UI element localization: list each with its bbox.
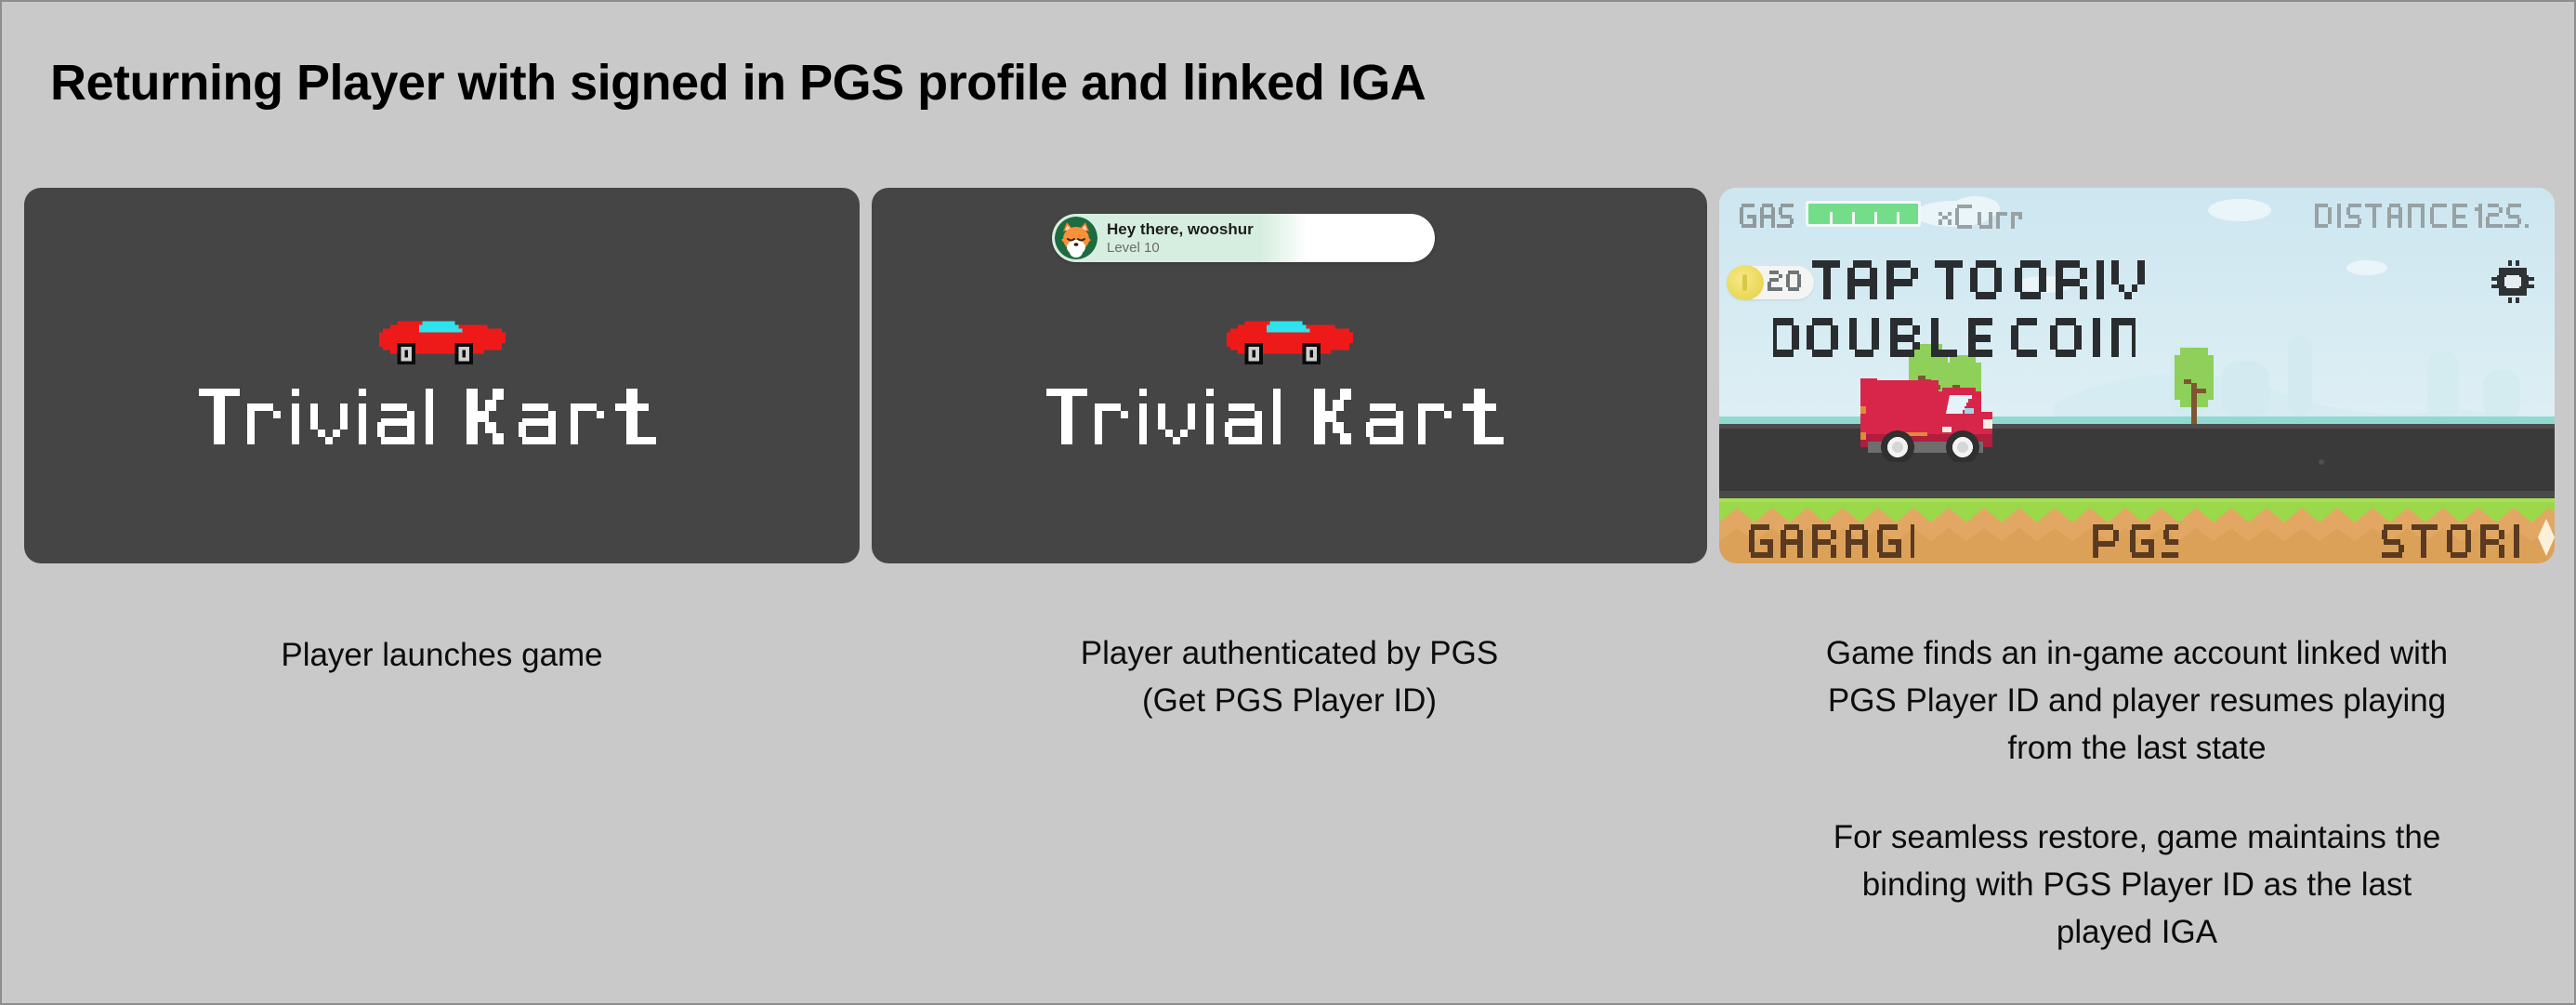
red-pixel-car-icon: [374, 311, 511, 368]
fox-avatar-icon: [1055, 217, 1097, 259]
center-message-line-2: [1773, 318, 2136, 361]
player-username: [1939, 205, 2024, 233]
caption-panel-3-secondary: For seamless restore, game maintains the…: [1712, 814, 2562, 956]
nav-item-pgs[interactable]: [2093, 524, 2178, 558]
caption-line: played IGA: [1712, 909, 2562, 957]
coin-counter: [1727, 266, 1814, 299]
center-message-line-1: [1812, 260, 2149, 303]
red-pixel-car-icon: [1221, 311, 1359, 368]
gas-meter-fill: [1808, 204, 1918, 224]
caption-line: Player authenticated by PGS: [872, 630, 1707, 678]
toast-level-text: Level 10: [1107, 240, 1254, 256]
caption-line: Game finds an in-game account linked wit…: [1712, 630, 2562, 678]
game-hud-topbar: [1719, 188, 2555, 245]
caption-line: (Get PGS Player ID): [872, 678, 1707, 725]
diagram-canvas: Returning Player with signed in PGS prof…: [0, 0, 2576, 1005]
coin-icon: [1727, 265, 1764, 300]
caption-panel-2: Player authenticated by PGS (Get PGS Pla…: [872, 630, 1707, 725]
game-scene: [1719, 188, 2555, 563]
pgs-welcome-toast[interactable]: Hey there, wooshur Level 10: [1052, 214, 1435, 262]
caption-panel-1: Player launches game: [24, 632, 860, 680]
caption-line: binding with PGS Player ID as the last: [1712, 862, 2562, 909]
splash-screen: [24, 188, 860, 563]
game-bottom-nav: [1719, 506, 2555, 563]
toast-greeting-text: Hey there, wooshur: [1107, 220, 1254, 239]
caption-line: For seamless restore, game maintains the: [1712, 814, 2562, 862]
panel-splash-authenticated: Hey there, wooshur Level 10: [872, 188, 1707, 563]
nav-item-store[interactable]: [2382, 524, 2519, 558]
panel-splash-launch: [24, 188, 860, 563]
caption-panel-3-primary: Game finds an in-game account linked wit…: [1712, 630, 2562, 772]
caption-line: from the last state: [1712, 725, 2562, 773]
coin-count-text: [1768, 271, 1801, 296]
caption-line: PGS Player ID and player resumes playing: [1712, 678, 2562, 725]
game-title-art: [199, 381, 686, 456]
game-title-art: [1046, 381, 1533, 456]
panel-gameplay: [1719, 188, 2555, 563]
gas-label: [1740, 204, 1794, 232]
gear-icon[interactable]: [2491, 260, 2534, 303]
distance-readout: [2315, 204, 2529, 232]
page-title: Returning Player with signed in PGS prof…: [50, 54, 1426, 112]
nav-item-garage[interactable]: [1749, 524, 1914, 558]
gas-meter: [1806, 201, 1921, 227]
red-pixel-truck-icon: [1857, 371, 2024, 462]
